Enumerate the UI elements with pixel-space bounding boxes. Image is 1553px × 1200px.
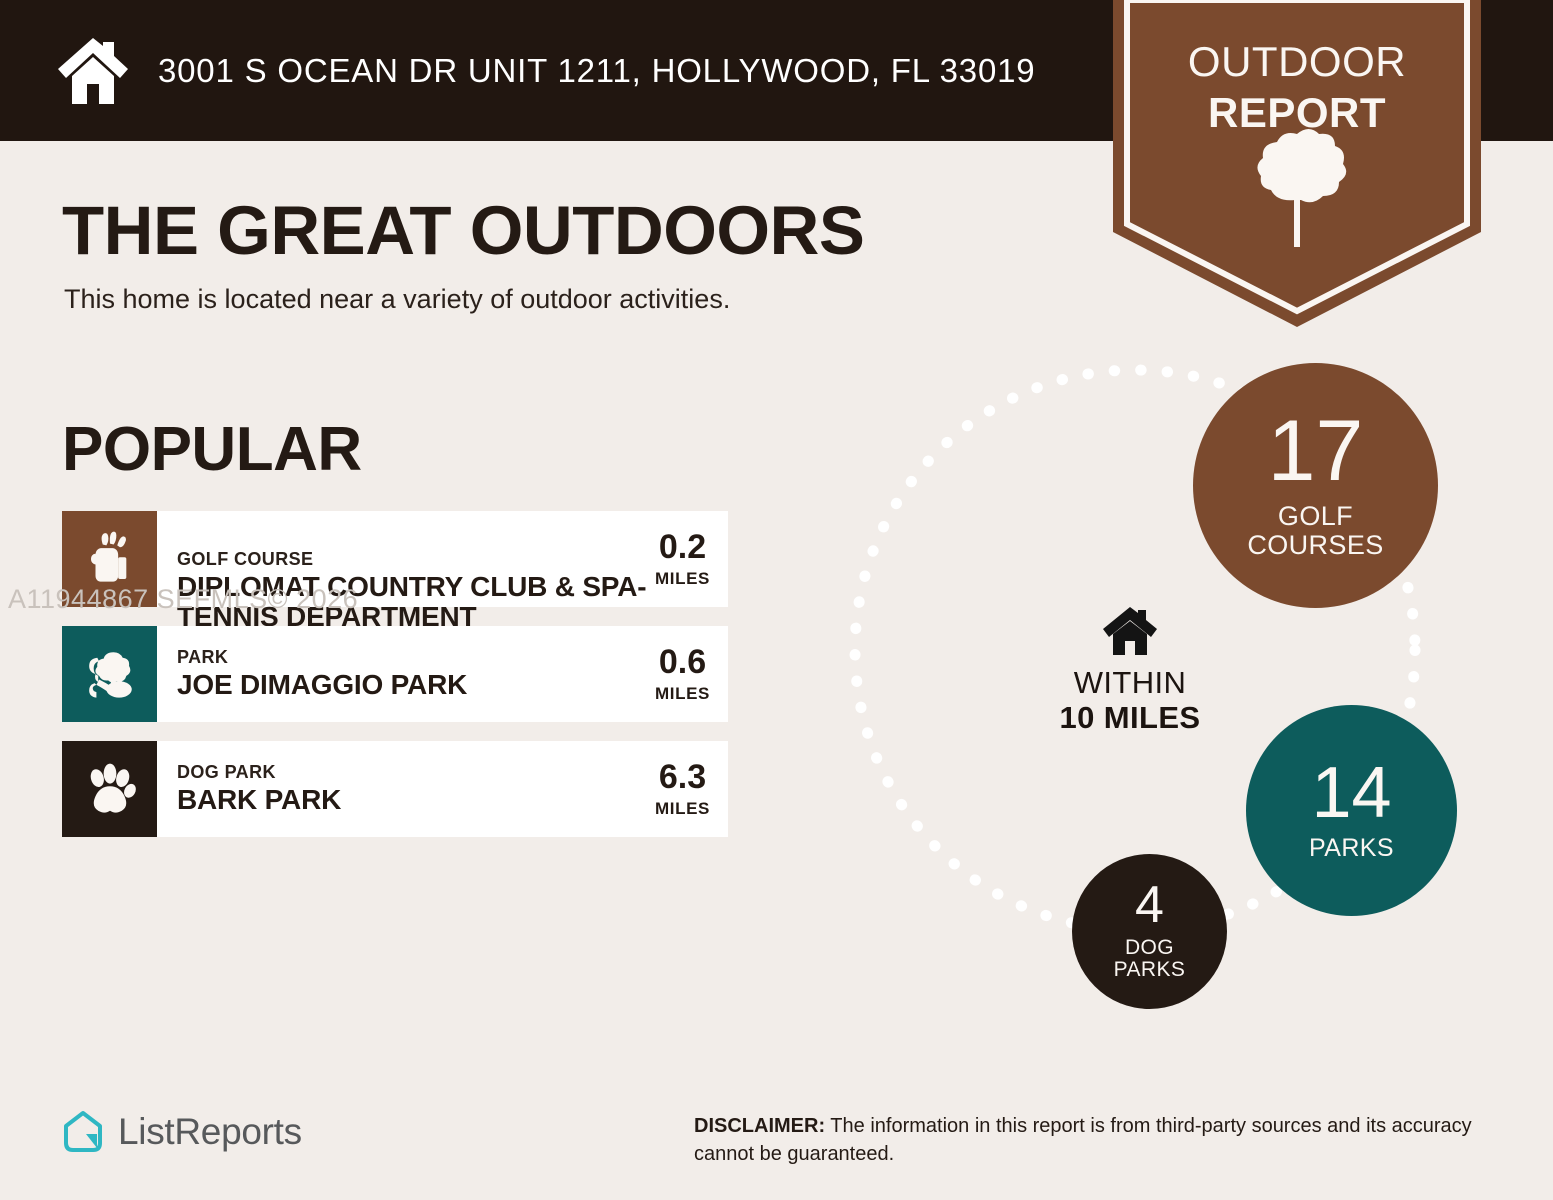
golf-bag-icon: [81, 530, 139, 588]
poi-distance: 6.3 MILES: [643, 760, 710, 819]
stat-count: 17: [1268, 411, 1364, 493]
house-icon: [1102, 605, 1158, 657]
stat-label: DOG PARKS: [1114, 937, 1186, 982]
header-band: 3001 S OCEAN DR UNIT 1211, HOLLYWOOD, FL…: [0, 0, 1113, 141]
poi-name: JOE DIMAGGIO PARK: [177, 670, 643, 701]
section-title-popular: POPULAR: [62, 414, 362, 485]
poi-distance-unit: MILES: [655, 684, 710, 704]
stat-label-line1: PARKS: [1309, 835, 1394, 862]
outdoor-report-page: 3001 S OCEAN DR UNIT 1211, HOLLYWOOD, FL…: [0, 0, 1553, 1200]
park-tree-icon: [81, 645, 139, 703]
poi-body: PARK JOE DIMAGGIO PARK 0.6 MILES: [157, 626, 728, 722]
poi-name: BARK PARK: [177, 785, 643, 816]
poi-distance-value: 0.6: [655, 645, 710, 679]
within-label-line1: WITHIN: [1015, 667, 1245, 700]
stat-count: 14: [1311, 759, 1391, 827]
badge-text: OUTDOOR REPORT: [1113, 36, 1481, 138]
poi-distance-unit: MILES: [655, 799, 710, 819]
poi-text: DOG PARK BARK PARK: [177, 762, 643, 815]
stat-label: PARKS: [1309, 835, 1394, 862]
poi-text: PARK JOE DIMAGGIO PARK: [177, 647, 643, 700]
stat-circle-parks[interactable]: 14 PARKS: [1246, 705, 1457, 916]
poi-category: DOG PARK: [177, 762, 643, 783]
poi-distance-value: 0.2: [655, 530, 710, 564]
poi-category: GOLF COURSE: [177, 549, 643, 570]
outdoor-report-badge: OUTDOOR REPORT: [1113, 0, 1481, 327]
house-icon: [56, 36, 130, 106]
listreports-house-logo: [62, 1110, 104, 1154]
disclaimer-label: DISCLAIMER:: [694, 1115, 825, 1137]
disclaimer: DISCLAIMER: The information in this repo…: [694, 1112, 1494, 1169]
badge-line2: REPORT: [1113, 87, 1481, 138]
list-item[interactable]: PARK JOE DIMAGGIO PARK 0.6 MILES: [62, 626, 728, 722]
stat-label-line2: COURSES: [1247, 531, 1383, 560]
list-item[interactable]: DOG PARK BARK PARK 6.3 MILES: [62, 741, 728, 837]
poi-icon-tile: [62, 626, 157, 722]
page-title: THE GREAT OUTDOORS: [62, 191, 864, 270]
stat-label: GOLF COURSES: [1247, 502, 1383, 560]
within-label-line2: 10 MILES: [1015, 700, 1245, 737]
stat-count: 4: [1135, 881, 1164, 930]
stat-circle-golf-courses[interactable]: 17 GOLF COURSES: [1193, 363, 1438, 608]
poi-category: PARK: [177, 647, 643, 668]
listreports-logo[interactable]: ListReports: [62, 1110, 302, 1154]
popular-list: GOLF COURSE DIPLOMAT COUNTRY CLUB & SPA-…: [62, 511, 728, 856]
paw-print-icon: [81, 760, 139, 818]
page-subtitle: This home is located near a variety of o…: [64, 284, 730, 315]
stat-label-line1: DOG: [1114, 937, 1186, 960]
stats-cluster: 17 GOLF COURSES 14 PARKS 4 DOG PARKS: [800, 340, 1500, 1040]
poi-distance-value: 6.3: [655, 760, 710, 794]
poi-distance: 0.6 MILES: [643, 645, 710, 704]
poi-text: GOLF COURSE DIPLOMAT COUNTRY CLUB & SPA-…: [177, 549, 643, 570]
within-radius-block: WITHIN 10 MILES: [1015, 605, 1245, 736]
poi-body: DOG PARK BARK PARK 6.3 MILES: [157, 741, 728, 837]
property-address: 3001 S OCEAN DR UNIT 1211, HOLLYWOOD, FL…: [158, 52, 1035, 90]
stat-circle-dog-parks[interactable]: 4 DOG PARKS: [1072, 854, 1227, 1009]
mls-watermark: A11944867 SEFMLS© 2026: [8, 584, 358, 615]
poi-icon-tile: [62, 741, 157, 837]
listreports-wordmark: ListReports: [118, 1111, 302, 1153]
badge-line1: OUTDOOR: [1188, 38, 1406, 85]
stat-label-line1: GOLF: [1247, 502, 1383, 531]
stat-label-line2: PARKS: [1114, 959, 1186, 982]
